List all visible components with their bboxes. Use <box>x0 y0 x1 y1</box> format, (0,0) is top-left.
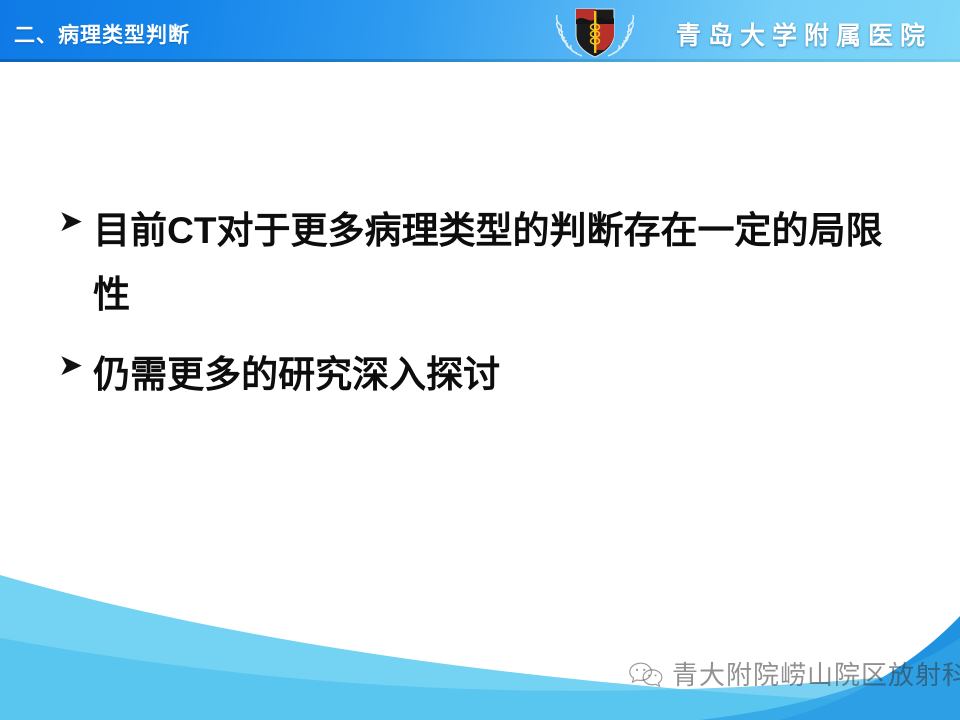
bullet-item: ➤ 目前CT对于更多病理类型的判断存在一定的局限性 <box>58 199 893 327</box>
slide-body: ➤ 目前CT对于更多病理类型的判断存在一定的局限性 ➤ 仍需更多的研究深入探讨 <box>0 61 960 720</box>
bullet-item-text: 目前CT对于更多病理类型的判断存在一定的局限性 <box>93 199 893 327</box>
bullet-arrow-icon: ➤ <box>58 199 83 245</box>
watermark-label: 青大附院崂山院区放射科 <box>672 655 960 692</box>
bullet-arrow-icon: ➤ <box>58 343 83 389</box>
bullet-item: ➤ 仍需更多的研究深入探讨 <box>58 343 500 407</box>
slide-canvas: 二、病理类型判断 <box>0 0 960 720</box>
slide-header-band: 二、病理类型判断 <box>0 0 960 61</box>
hospital-name-label: 青岛大学附属医院 <box>676 16 932 52</box>
hospital-shield-emblem-icon <box>552 3 638 61</box>
wechat-icon <box>628 659 664 689</box>
bullet-item-text: 仍需更多的研究深入探讨 <box>93 343 500 407</box>
page-title: 二、病理类型判断 <box>14 19 190 49</box>
wechat-watermark: 青大附院崂山院区放射科 <box>628 655 960 692</box>
